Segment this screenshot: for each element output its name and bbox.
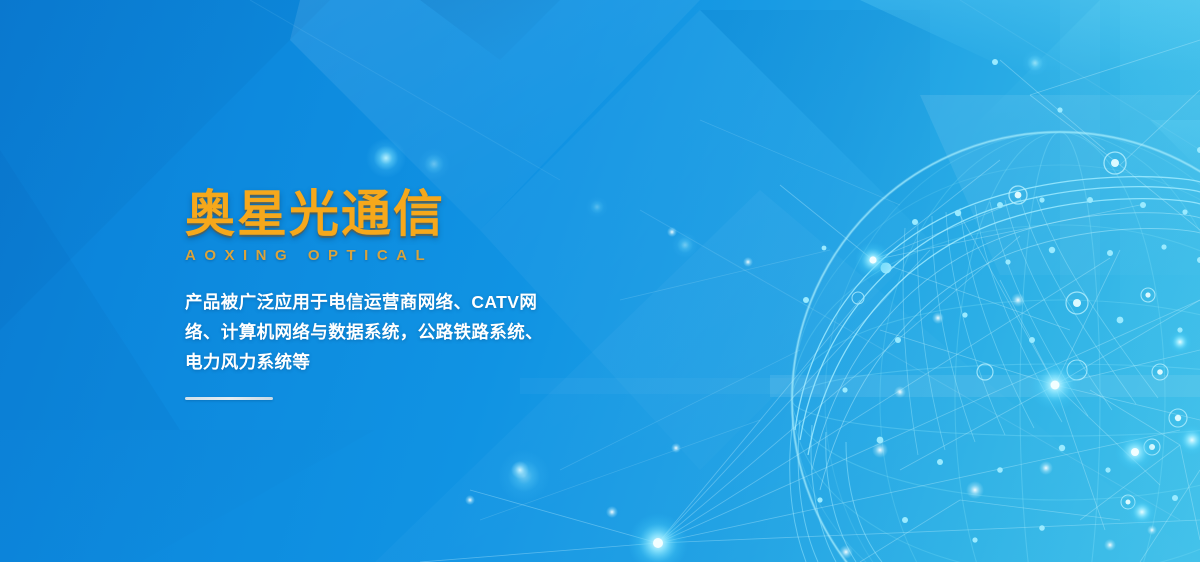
description-line-3: 电力风力系统等 (185, 347, 605, 377)
description-line-2: 络、计算机网络与数据系统，公路铁路系统、 (185, 317, 605, 347)
description-text: 产品被广泛应用于电信运营商网络、CATV网 络、计算机网络与数据系统，公路铁路系… (185, 287, 605, 377)
ambient-glow-5 (1022, 50, 1048, 76)
hero-banner: 奥星光通信 AOXING OPTICAL 产品被广泛应用于电信运营商网络、CAT… (0, 0, 1200, 562)
description-line-1: 产品被广泛应用于电信运营商网络、CATV网 (185, 287, 605, 317)
ambient-glow-1 (366, 138, 406, 178)
accent-divider (185, 397, 273, 400)
ambient-glow-2 (418, 148, 450, 180)
brand-title: 奥星光通信 (185, 186, 705, 242)
banner-content: 奥星光通信 AOXING OPTICAL 产品被广泛应用于电信运营商网络、CAT… (185, 186, 705, 400)
brand-subtitle: AOXING OPTICAL (185, 246, 705, 266)
ambient-glow-4 (498, 450, 550, 502)
